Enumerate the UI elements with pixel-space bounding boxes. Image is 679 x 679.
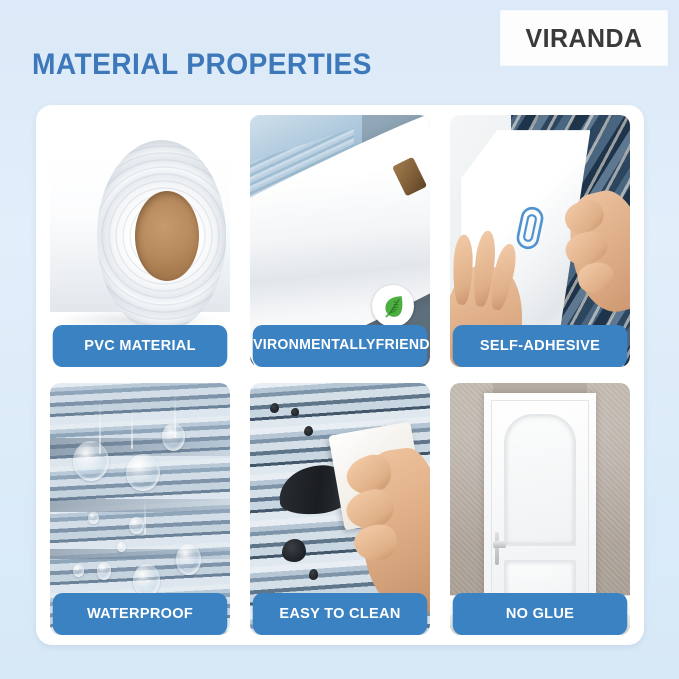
feature-grid: PVC MATERIAL [50, 115, 630, 635]
water-droplet [162, 423, 185, 451]
water-droplet [129, 517, 143, 535]
feature-card-easy-to-clean[interactable]: EASY TO CLEAN [250, 383, 430, 635]
finger [452, 235, 473, 305]
brand-name: VIRANDA [525, 23, 642, 54]
feature-card-environmentally-friendly[interactable]: ENVIRONMENTALLY FRIENDLY [250, 115, 430, 367]
water-droplet [117, 542, 126, 552]
stain-spot [291, 408, 298, 416]
page-title: MATERIAL PROPERTIES [32, 48, 372, 82]
card-label-no-glue: NO GLUE [453, 593, 628, 635]
card-label-pvc-material: PVC MATERIAL [53, 325, 228, 367]
door-handle-plate [495, 532, 499, 565]
card-label-line1: ENVIRONMENTALLY [250, 338, 376, 353]
card-label-line2: FRIENDLY [376, 338, 430, 353]
card-label-waterproof: WATERPROOF [53, 593, 228, 635]
water-droplet [73, 441, 109, 481]
feature-card-self-adhesive[interactable]: SELF-ADHESIVE [450, 115, 630, 367]
water-droplet [97, 562, 111, 580]
water-streak [144, 499, 146, 534]
feature-card-waterproof[interactable]: WATERPROOF [50, 383, 230, 635]
eco-leaf-badge [372, 285, 414, 327]
stain-spot [270, 403, 279, 413]
feature-card-no-glue[interactable]: NO GLUE [450, 383, 630, 635]
water-droplet [73, 564, 84, 577]
card-label-environmentally-friendly: ENVIRONMENTALLY FRIENDLY [253, 325, 428, 367]
water-droplet [88, 512, 99, 525]
water-droplet [126, 454, 160, 492]
door-panel-top [504, 414, 577, 545]
roll-cardboard-core [135, 191, 200, 282]
brand-logo-box: VIRANDA [501, 11, 667, 65]
card-label-self-adhesive: SELF-ADHESIVE [453, 325, 628, 367]
leaf-icon [380, 293, 406, 319]
surface-band [50, 499, 230, 512]
stain-spot [282, 539, 305, 562]
stain-spot [309, 569, 318, 579]
stain-spot [304, 426, 313, 436]
feature-panel: PVC MATERIAL [36, 105, 644, 645]
feature-card-pvc-material[interactable]: PVC MATERIAL [50, 115, 230, 367]
water-droplet [176, 544, 201, 574]
card-label-easy-to-clean: EASY TO CLEAN [253, 593, 428, 635]
water-streak [131, 408, 133, 448]
door-handle [493, 541, 506, 548]
surface-band [50, 549, 230, 559]
